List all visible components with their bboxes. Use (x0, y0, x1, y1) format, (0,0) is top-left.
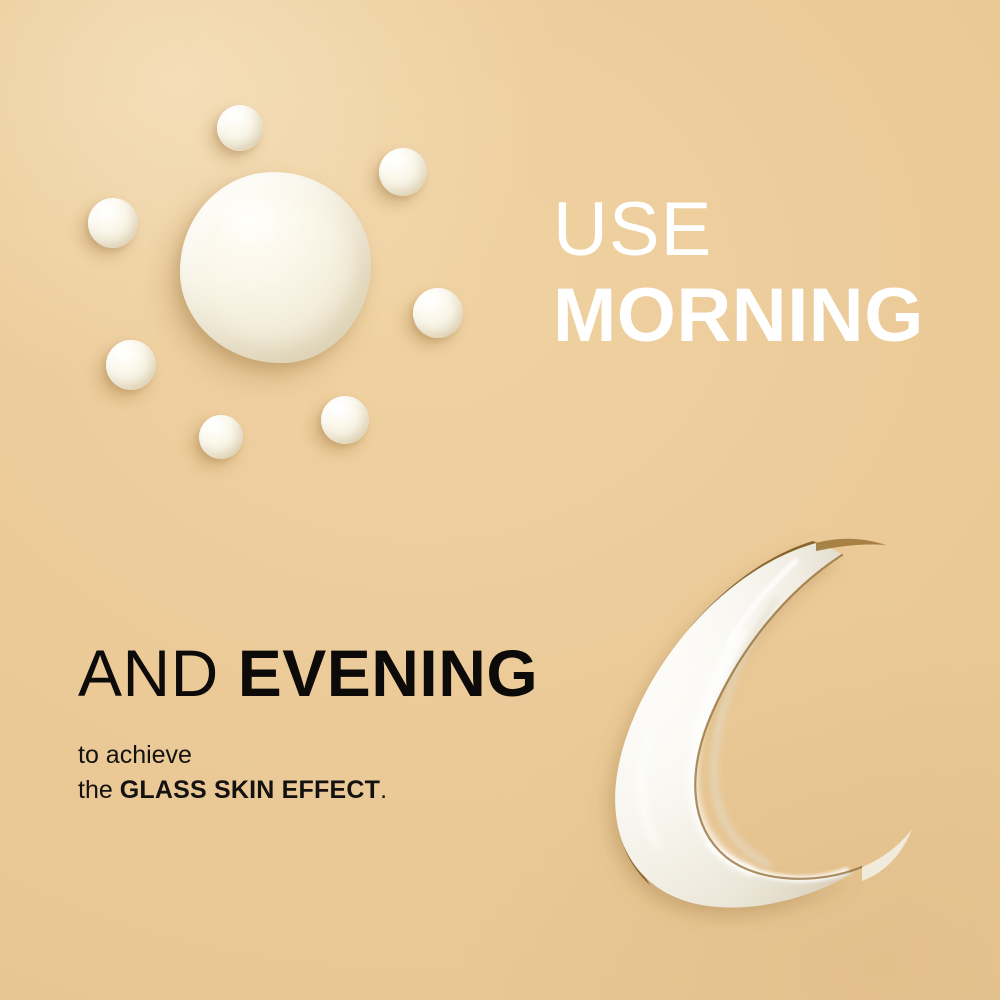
ray-dot-top-right (379, 148, 427, 196)
evening-sub-line-2: the GLASS SKIN EFFECT. (78, 773, 538, 808)
ray-dot-lower-left (106, 340, 156, 390)
ray-dot-bottom (199, 415, 243, 459)
sun-cream-droplets-icon (0, 0, 520, 520)
ray-dot-bottom-right (321, 396, 369, 444)
evening-sub-the: the (78, 776, 120, 804)
evening-sub-glass-skin-effect: GLASS SKIN EFFECT (120, 776, 380, 804)
ray-dot-right (413, 288, 463, 338)
evening-sub-period: . (380, 776, 387, 804)
sun-core-droplet (180, 172, 371, 363)
promo-canvas: USE MORNING AND EVENING to achieve the G… (0, 0, 1000, 1000)
crescent-tip-bottom (862, 829, 912, 881)
morning-text-block: USE MORNING (553, 192, 924, 354)
evening-heading-evening: EVENING (238, 636, 539, 710)
ray-dot-top (217, 105, 263, 151)
evening-sub-line-1: to achieve (78, 741, 192, 769)
evening-heading-and: AND (78, 636, 238, 710)
evening-heading: AND EVENING (78, 640, 538, 706)
ray-dot-left (88, 198, 138, 248)
crescent-inner-shade (615, 543, 862, 908)
evening-subtext: to achieve the GLASS SKIN EFFECT. (78, 738, 538, 807)
crescent-moon-cream-smear-icon (590, 515, 930, 915)
morning-line-use: USE (553, 192, 924, 268)
morning-line-morning: MORNING (553, 278, 924, 354)
evening-text-block: AND EVENING to achieve the GLASS SKIN EF… (78, 640, 538, 807)
